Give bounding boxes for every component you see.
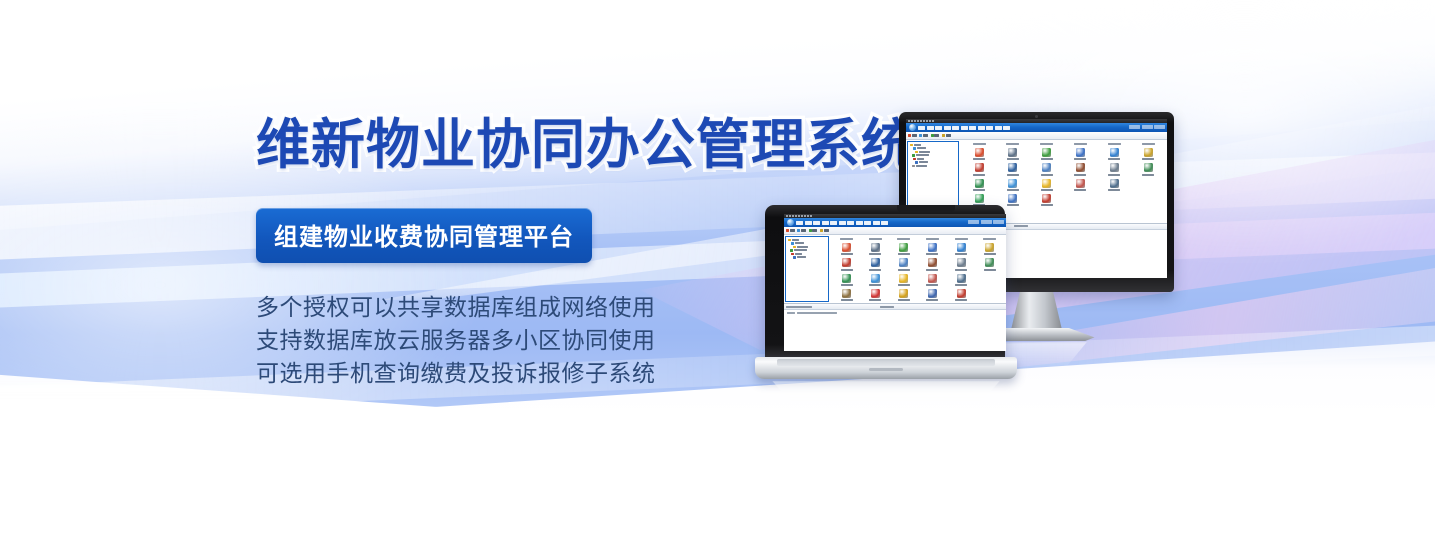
- menu-item[interactable]: [873, 221, 880, 225]
- column-header-label: [869, 238, 882, 240]
- toolbar-icon: [820, 229, 823, 232]
- tree-node-label: [797, 256, 806, 258]
- toolbar-label: [946, 134, 951, 137]
- titlebar-dot: [911, 120, 913, 122]
- module-label: [898, 269, 910, 271]
- column-header-label: [840, 238, 853, 240]
- navigation-tree[interactable]: [785, 236, 829, 302]
- tree-node-label: [794, 249, 807, 251]
- module-cell[interactable]: [861, 243, 890, 255]
- tree-node-label: [797, 246, 808, 248]
- module-cell[interactable]: [1030, 194, 1064, 206]
- device-mockups: [748, 100, 1428, 520]
- toolbar-label: [934, 134, 939, 137]
- module-label: [1074, 158, 1086, 160]
- folder-icon: [788, 239, 791, 242]
- module-cell: [1097, 194, 1131, 206]
- toolbar-label: [801, 229, 806, 232]
- module-label: [1142, 174, 1154, 176]
- list-column-header: [786, 306, 812, 308]
- toolbar-icon: [942, 134, 945, 137]
- module-cell[interactable]: [832, 243, 861, 255]
- module-cell[interactable]: [1097, 163, 1131, 175]
- titlebar-dot: [786, 215, 788, 217]
- module-label: [1108, 158, 1120, 160]
- module-icon[interactable]: [975, 194, 984, 203]
- module-cell[interactable]: [861, 258, 890, 270]
- module-cell: [975, 274, 1004, 286]
- app-header-bar: [906, 123, 1167, 132]
- module-icon[interactable]: [842, 289, 851, 298]
- module-icon[interactable]: [975, 163, 984, 172]
- module-cell[interactable]: [962, 148, 996, 160]
- menu-item[interactable]: [1003, 126, 1010, 130]
- toolbar-label: [912, 134, 917, 137]
- titlebar-dot: [908, 120, 910, 122]
- menu-item[interactable]: [796, 221, 803, 225]
- module-cell[interactable]: [947, 258, 976, 270]
- tree-node-label: [919, 151, 930, 153]
- column-header-label: [1142, 143, 1155, 145]
- menu-item[interactable]: [927, 126, 934, 130]
- titlebar-dot: [929, 120, 931, 122]
- toolbar-label: [824, 229, 829, 232]
- module-icon-grid[interactable]: [962, 148, 1165, 206]
- module-icon[interactable]: [1042, 163, 1051, 172]
- module-icon[interactable]: [1076, 148, 1085, 157]
- toolbar-button[interactable]: [797, 229, 806, 232]
- toolbar-label: [812, 229, 817, 232]
- module-label: [955, 253, 967, 255]
- module-icon[interactable]: [1076, 179, 1085, 188]
- module-cell[interactable]: [1097, 179, 1131, 191]
- menu-item[interactable]: [952, 126, 959, 130]
- tree-node-label: [792, 239, 799, 241]
- module-label: [1007, 189, 1019, 191]
- module-icon[interactable]: [842, 243, 851, 252]
- module-icon[interactable]: [871, 274, 880, 283]
- module-cell[interactable]: [975, 243, 1004, 255]
- toolbar-icon: [919, 134, 922, 137]
- module-icon[interactable]: [842, 258, 851, 267]
- tree-node[interactable]: [910, 161, 957, 164]
- module-label: [955, 299, 967, 301]
- module-cell[interactable]: [861, 274, 890, 286]
- module-cell[interactable]: [918, 289, 947, 301]
- list-panel: [784, 303, 1006, 351]
- folder-icon: [913, 158, 916, 161]
- tree-node[interactable]: [910, 158, 957, 161]
- module-icon[interactable]: [1144, 148, 1153, 157]
- header-action-button[interactable]: [981, 220, 992, 224]
- menu-item[interactable]: [813, 221, 820, 225]
- module-icon[interactable]: [1042, 179, 1051, 188]
- toolbar-button[interactable]: [908, 134, 917, 137]
- tree-node[interactable]: [910, 151, 957, 154]
- tree-node[interactable]: [788, 239, 827, 242]
- tree-node[interactable]: [910, 154, 957, 157]
- module-icon[interactable]: [1042, 194, 1051, 203]
- column-header-label: [955, 238, 968, 240]
- module-label: [1041, 158, 1053, 160]
- module-icon[interactable]: [1042, 148, 1051, 157]
- menu-item[interactable]: [918, 126, 925, 130]
- module-icon[interactable]: [899, 274, 908, 283]
- module-label: [841, 299, 853, 301]
- module-label: [984, 253, 996, 255]
- module-label: [1041, 204, 1053, 206]
- column-header-label: [926, 238, 939, 240]
- column-header-label: [1040, 143, 1053, 145]
- header-action-button[interactable]: [1154, 125, 1165, 129]
- app-menu[interactable]: [918, 126, 1010, 130]
- titlebar-dot: [795, 215, 797, 217]
- toolbar-label: [923, 134, 928, 137]
- module-label: [1041, 174, 1053, 176]
- app-toolbar[interactable]: [784, 227, 1006, 235]
- tree-node[interactable]: [788, 242, 827, 245]
- module-icon[interactable]: [957, 243, 966, 252]
- tree-node-label: [919, 161, 928, 163]
- module-cell[interactable]: [947, 243, 976, 255]
- module-label: [1074, 189, 1086, 191]
- module-cell[interactable]: [996, 179, 1030, 191]
- module-cell[interactable]: [890, 289, 919, 301]
- tree-node-label: [917, 147, 926, 149]
- module-cell[interactable]: [918, 243, 947, 255]
- app-header-bar: [784, 218, 1006, 227]
- menu-item[interactable]: [978, 126, 985, 130]
- module-cell[interactable]: [962, 163, 996, 175]
- module-cell[interactable]: [996, 163, 1030, 175]
- titlebar-dot: [920, 120, 922, 122]
- module-icon[interactable]: [928, 289, 937, 298]
- folder-icon: [912, 165, 915, 168]
- folder-icon: [913, 147, 916, 150]
- app-body: [784, 235, 1006, 303]
- list-cell: [797, 312, 837, 314]
- folder-icon: [790, 249, 793, 252]
- module-icon[interactable]: [1110, 179, 1119, 188]
- module-icon[interactable]: [871, 258, 880, 267]
- titlebar-dot: [914, 120, 916, 122]
- module-icon[interactable]: [1110, 148, 1119, 157]
- module-label: [926, 253, 938, 255]
- module-grid-panel: [830, 235, 1006, 303]
- module-icon[interactable]: [1076, 163, 1085, 172]
- tree-node-label: [795, 253, 802, 255]
- app-logo-icon: [909, 124, 916, 131]
- laptop-lid: [765, 205, 1005, 360]
- module-label: [898, 284, 910, 286]
- module-label: [1108, 189, 1120, 191]
- tree-node[interactable]: [910, 144, 957, 147]
- header-action-button[interactable]: [993, 220, 1004, 224]
- tree-node-label: [914, 144, 921, 146]
- list-column-header: [880, 306, 894, 308]
- module-column-headers: [962, 143, 1165, 145]
- titlebar-dot: [792, 215, 794, 217]
- module-label: [955, 284, 967, 286]
- menu-item[interactable]: [995, 126, 1002, 130]
- module-cell[interactable]: [861, 289, 890, 301]
- module-cell[interactable]: [975, 258, 1004, 270]
- laptop-webcam-notch: [897, 205, 955, 212]
- titlebar-dot: [926, 120, 928, 122]
- webcam-icon: [1035, 115, 1038, 118]
- menu-item[interactable]: [986, 126, 993, 130]
- module-cell[interactable]: [918, 258, 947, 270]
- table-row[interactable]: [784, 310, 1006, 316]
- module-icon[interactable]: [957, 258, 966, 267]
- toolbar-button[interactable]: [809, 229, 818, 232]
- module-cell[interactable]: [918, 274, 947, 286]
- toolbar-button[interactable]: [820, 229, 829, 232]
- titlebar-dot: [798, 215, 800, 217]
- tree-node[interactable]: [910, 147, 957, 150]
- toolbar-icon: [797, 229, 800, 232]
- module-label: [1007, 174, 1019, 176]
- module-icon[interactable]: [871, 289, 880, 298]
- tree-node[interactable]: [788, 246, 827, 249]
- menu-item[interactable]: [935, 126, 942, 130]
- folder-icon: [791, 242, 794, 245]
- tree-node-label: [916, 165, 927, 167]
- module-label: [973, 158, 985, 160]
- menu-item[interactable]: [822, 221, 829, 225]
- module-icon[interactable]: [975, 179, 984, 188]
- module-cell: [975, 289, 1004, 301]
- titlebar-dot: [804, 215, 806, 217]
- toolbar-icon: [786, 229, 789, 232]
- menu-item[interactable]: [856, 221, 863, 225]
- column-header-label: [1108, 143, 1121, 145]
- toolbar-button[interactable]: [942, 134, 951, 137]
- app-header-actions[interactable]: [1129, 125, 1165, 129]
- module-label: [973, 174, 985, 176]
- tree-node[interactable]: [788, 253, 827, 256]
- menu-item[interactable]: [881, 221, 888, 225]
- module-cell[interactable]: [832, 289, 861, 301]
- folder-icon: [915, 161, 918, 164]
- toolbar-button[interactable]: [919, 134, 928, 137]
- laptop-screen: [784, 214, 1006, 351]
- module-cell[interactable]: [947, 274, 976, 286]
- toolbar-icon: [931, 134, 934, 137]
- module-cell: [1131, 179, 1165, 191]
- menu-item[interactable]: [969, 126, 976, 130]
- module-label: [984, 269, 996, 271]
- titlebar-dot: [789, 215, 791, 217]
- titlebar-dot: [810, 215, 812, 217]
- folder-icon: [912, 154, 915, 157]
- titlebar-dot: [801, 215, 803, 217]
- module-label: [841, 284, 853, 286]
- titlebar-dot: [807, 215, 809, 217]
- folder-icon: [793, 256, 796, 259]
- list-cell: [787, 312, 795, 314]
- header-action-button[interactable]: [1129, 125, 1140, 129]
- module-cell: [1064, 194, 1098, 206]
- module-cell[interactable]: [1131, 163, 1165, 175]
- tree-node-label: [916, 154, 929, 156]
- module-icon[interactable]: [957, 289, 966, 298]
- module-cell[interactable]: [890, 258, 919, 270]
- app-header-actions[interactable]: [968, 220, 1004, 224]
- module-label: [898, 299, 910, 301]
- module-icon[interactable]: [928, 274, 937, 283]
- menu-item[interactable]: [847, 221, 854, 225]
- toolbar-label: [790, 229, 795, 232]
- module-cell[interactable]: [1030, 179, 1064, 191]
- laptop-reflection: [765, 381, 1007, 405]
- module-label: [926, 269, 938, 271]
- folder-icon: [793, 246, 796, 249]
- titlebar-dot: [917, 120, 919, 122]
- module-icon[interactable]: [985, 258, 994, 267]
- module-icon[interactable]: [1144, 163, 1153, 172]
- module-icon[interactable]: [1008, 179, 1017, 188]
- monitor-stand: [1011, 292, 1063, 332]
- module-cell[interactable]: [962, 179, 996, 191]
- module-label: [955, 269, 967, 271]
- module-label: [898, 253, 910, 255]
- module-icon[interactable]: [928, 243, 937, 252]
- module-label: [1142, 158, 1154, 160]
- module-label: [1007, 158, 1019, 160]
- app-toolbar[interactable]: [906, 132, 1167, 140]
- module-cell[interactable]: [890, 243, 919, 255]
- module-label: [869, 269, 881, 271]
- module-label: [841, 269, 853, 271]
- module-label: [926, 299, 938, 301]
- column-header-label: [1006, 143, 1019, 145]
- tree-node-label: [795, 242, 804, 244]
- tagline-badge: 组建物业收费协同管理平台: [256, 208, 592, 263]
- module-label: [1041, 189, 1053, 191]
- module-label: [926, 284, 938, 286]
- folder-icon: [910, 144, 913, 147]
- module-icon[interactable]: [1008, 194, 1017, 203]
- module-icon[interactable]: [899, 258, 908, 267]
- module-icon[interactable]: [985, 243, 994, 252]
- module-icon[interactable]: [957, 274, 966, 283]
- module-cell[interactable]: [890, 274, 919, 286]
- column-header-label: [897, 238, 910, 240]
- laptop-trackpad: [869, 368, 903, 371]
- module-icon[interactable]: [1008, 163, 1017, 172]
- module-cell[interactable]: [1097, 148, 1131, 160]
- column-header-label: [973, 143, 986, 145]
- folder-icon: [791, 253, 794, 256]
- module-icon[interactable]: [1008, 148, 1017, 157]
- toolbar-icon: [809, 229, 812, 232]
- column-header-label: [983, 238, 996, 240]
- module-cell[interactable]: [947, 289, 976, 301]
- laptop-keyboard: [777, 359, 995, 366]
- header-action-button[interactable]: [1142, 125, 1153, 129]
- module-label: [1108, 174, 1120, 176]
- tree-node[interactable]: [788, 249, 827, 252]
- module-cell[interactable]: [832, 274, 861, 286]
- app-logo-icon: [787, 219, 794, 226]
- menu-item[interactable]: [961, 126, 968, 130]
- module-label: [869, 299, 881, 301]
- tree-node[interactable]: [788, 256, 827, 259]
- menu-item[interactable]: [830, 221, 837, 225]
- list-rows[interactable]: [784, 310, 1006, 316]
- app-menu[interactable]: [796, 221, 888, 225]
- titlebar-dot: [923, 120, 925, 122]
- menu-item[interactable]: [839, 221, 846, 225]
- module-label: [869, 253, 881, 255]
- module-cell[interactable]: [1064, 163, 1098, 175]
- menu-item[interactable]: [805, 221, 812, 225]
- module-label: [841, 253, 853, 255]
- module-cell[interactable]: [1131, 148, 1165, 160]
- module-icon[interactable]: [975, 148, 984, 157]
- module-cell[interactable]: [1064, 148, 1098, 160]
- module-cell: [1131, 194, 1165, 206]
- menu-item[interactable]: [864, 221, 871, 225]
- module-icon[interactable]: [842, 274, 851, 283]
- module-label: [869, 284, 881, 286]
- tree-node[interactable]: [910, 165, 957, 168]
- titlebar-dot: [932, 120, 934, 122]
- module-cell[interactable]: [1064, 179, 1098, 191]
- menu-item[interactable]: [944, 126, 951, 130]
- module-cell[interactable]: [1030, 163, 1064, 175]
- column-header-label: [1074, 143, 1087, 145]
- module-cell[interactable]: [996, 148, 1030, 160]
- tree-node-label: [917, 158, 924, 160]
- module-column-headers: [832, 238, 1004, 240]
- app-window-laptop: [784, 214, 1006, 351]
- module-label: [973, 189, 985, 191]
- laptop: [755, 205, 1017, 395]
- module-cell[interactable]: [832, 258, 861, 270]
- toolbar-button[interactable]: [786, 229, 795, 232]
- promo-banner: 维新物业协同办公管理系统 组建物业收费协同管理平台 多个授权可以共享数据库组成网…: [0, 0, 1435, 538]
- folder-icon: [915, 151, 918, 154]
- module-icon[interactable]: [928, 258, 937, 267]
- module-cell[interactable]: [1030, 148, 1064, 160]
- header-action-button[interactable]: [968, 220, 979, 224]
- toolbar-button[interactable]: [931, 134, 940, 137]
- module-icon-grid[interactable]: [832, 243, 1004, 301]
- module-icon[interactable]: [899, 243, 908, 252]
- module-icon[interactable]: [899, 289, 908, 298]
- toolbar-icon: [908, 134, 911, 137]
- module-icon[interactable]: [871, 243, 880, 252]
- module-icon[interactable]: [1110, 163, 1119, 172]
- module-label: [1074, 174, 1086, 176]
